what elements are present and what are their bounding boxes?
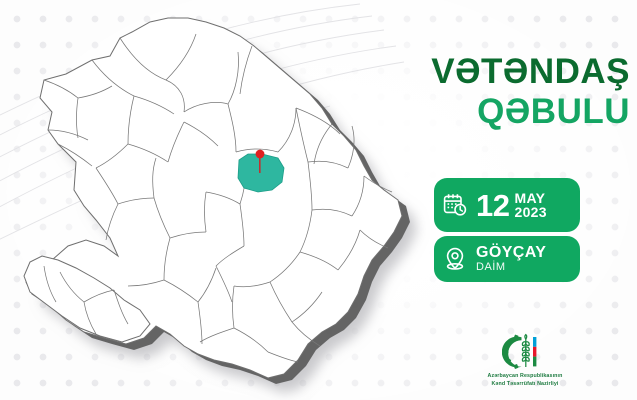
date-month: MAY (514, 191, 546, 205)
date-badge-text: 12 MAY 2023 (476, 190, 547, 221)
azerbaijan-flag-bar-icon (533, 337, 536, 366)
location-subtitle: DAİM (476, 262, 546, 274)
date-badge[interactable]: 12 MAY 2023 (434, 178, 580, 232)
headline-line-1: VƏTƏNDAŞ (404, 55, 630, 89)
date-month-year: MAY 2023 (514, 191, 546, 220)
location-city: GÖYÇAY (476, 245, 546, 262)
date-day: 12 (476, 190, 509, 221)
poster-canvas: VƏTƏNDAŞ QƏBULU 12 (0, 0, 637, 400)
azerbaijan-map[interactable] (0, 0, 430, 400)
ministry-emblem-icon (502, 333, 548, 371)
wheat-icon (522, 335, 529, 367)
headline-line-2: QƏBULU (404, 95, 630, 129)
calendar-clock-icon (434, 192, 476, 218)
page-title: VƏTƏNDAŞ QƏBULU (404, 55, 630, 130)
gear-icon (502, 334, 522, 369)
ministry-name-line-1: Azərbaycan Respublikasının (488, 373, 563, 381)
ministry-logo: Azərbaycan Respublikasının Kənd Təsərrüf… (464, 333, 586, 393)
ministry-name-line-2: Kənd Təsərrüfatı Nazirliyi (488, 381, 563, 389)
highlighted-district-goycay[interactable] (238, 154, 284, 192)
ministry-name: Azərbaycan Respublikasının Kənd Təsərrüf… (488, 373, 563, 388)
map-container (0, 0, 430, 400)
date-year: 2023 (514, 205, 546, 219)
map-pin-icon (434, 246, 476, 272)
location-badge-text: GÖYÇAY DAİM (476, 245, 546, 273)
location-badge[interactable]: GÖYÇAY DAİM (434, 236, 580, 282)
